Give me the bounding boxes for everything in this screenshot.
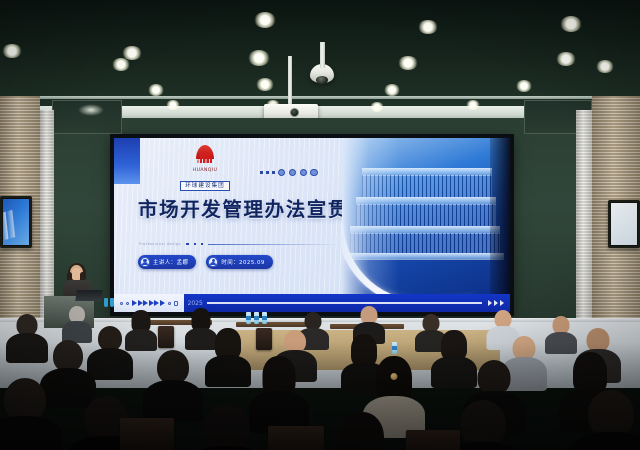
slide-accent-bar bbox=[114, 138, 140, 184]
audience-member bbox=[196, 404, 258, 450]
company-logo: HUANQIU 环球建设集团 bbox=[170, 144, 240, 192]
water-bottle bbox=[392, 342, 397, 354]
projector-lens-icon bbox=[290, 108, 299, 117]
slide-content: HUANQIU 环球建设集团 市场开发管理办法宣贯 Professional d… bbox=[114, 138, 510, 294]
audience-member bbox=[330, 412, 392, 450]
slide-building-photo bbox=[342, 138, 510, 294]
decor-ring-icon bbox=[289, 169, 296, 176]
projector-mount bbox=[288, 56, 292, 108]
downlight bbox=[148, 84, 164, 96]
photo-edge-shade bbox=[490, 138, 510, 294]
presenter-label: 主讲人：孟娜 bbox=[153, 258, 188, 266]
audience-member bbox=[436, 330, 472, 382]
downlight bbox=[370, 102, 384, 112]
presenter-pill: 主讲人：孟娜 bbox=[138, 255, 196, 269]
audience-member bbox=[548, 316, 574, 350]
downlight bbox=[466, 100, 480, 110]
audience-member bbox=[150, 350, 196, 416]
downlight bbox=[560, 16, 582, 32]
water-bottle bbox=[246, 312, 251, 324]
downlight bbox=[166, 100, 180, 110]
downlight bbox=[516, 80, 532, 92]
photo-fade-overlay bbox=[342, 138, 510, 294]
decorative-dots bbox=[260, 169, 318, 176]
downlight bbox=[398, 56, 418, 70]
decor-ring-icon bbox=[310, 169, 317, 176]
right-wall-monitor[interactable] bbox=[608, 200, 640, 248]
right-wall-monitor-screen bbox=[611, 203, 637, 245]
decor-square-icon bbox=[194, 243, 196, 245]
audience-member bbox=[210, 328, 246, 380]
person-icon bbox=[140, 257, 150, 267]
downlight bbox=[556, 52, 576, 66]
decor-ring-icon bbox=[300, 169, 307, 176]
audience-member bbox=[128, 310, 154, 344]
fan-logo-icon bbox=[192, 144, 218, 168]
camera-lens-icon bbox=[316, 76, 328, 84]
date-label: 时间：2025.09 bbox=[221, 258, 264, 266]
downlight bbox=[384, 84, 400, 96]
chair bbox=[256, 328, 272, 350]
ceiling-rail bbox=[0, 96, 640, 99]
audience-member bbox=[452, 400, 514, 450]
divider-line bbox=[208, 244, 339, 245]
left-wall-monitor[interactable] bbox=[0, 196, 32, 248]
decor-square-icon bbox=[260, 171, 263, 174]
downlight bbox=[112, 58, 130, 71]
chair bbox=[120, 418, 174, 450]
audience-member bbox=[0, 378, 54, 450]
slide-subtitle-row: Professional design bbox=[139, 242, 339, 246]
logo-caption: HUANQIU bbox=[170, 169, 240, 174]
decor-square-icon bbox=[272, 171, 275, 174]
decor-square-icon bbox=[266, 171, 269, 174]
conference-room-scene: HUANQIU 环球建设集团 市场开发管理办法宣贯 Professional d… bbox=[0, 0, 640, 450]
downlight bbox=[2, 44, 22, 58]
left-wall-monitor-screen bbox=[3, 199, 29, 245]
audience-member bbox=[92, 326, 128, 376]
audience-member bbox=[10, 314, 44, 360]
downlight bbox=[596, 60, 614, 73]
date-pill: 时间：2025.09 bbox=[206, 255, 272, 269]
wall-glare bbox=[78, 104, 104, 116]
audience-member bbox=[580, 390, 640, 450]
slide-meta-pills: 主讲人：孟娜 时间：2025.09 bbox=[138, 255, 273, 269]
decor-ring-icon bbox=[278, 169, 285, 176]
chair bbox=[406, 430, 460, 450]
decor-square-icon bbox=[186, 243, 188, 245]
chair bbox=[268, 426, 324, 450]
water-bottle bbox=[262, 312, 267, 324]
camera-mount bbox=[320, 42, 325, 68]
decor-square-icon bbox=[201, 243, 203, 245]
company-name-badge: 环球建设集团 bbox=[180, 181, 230, 191]
side-wall-white-right bbox=[576, 110, 592, 330]
downlight bbox=[254, 12, 276, 28]
water-bottle bbox=[254, 312, 259, 324]
hair-clip-icon bbox=[391, 373, 398, 380]
audience-member bbox=[64, 306, 90, 340]
person-icon bbox=[208, 257, 218, 267]
audience-member bbox=[256, 356, 302, 422]
slide-subtitle-en: Professional design bbox=[139, 242, 181, 246]
projection-screen[interactable]: HUANQIU 环球建设集团 市场开发管理办法宣贯 Professional d… bbox=[112, 136, 512, 314]
downlight bbox=[248, 50, 270, 66]
audience bbox=[0, 300, 640, 450]
downlight bbox=[418, 20, 438, 34]
downlight bbox=[256, 78, 274, 91]
chair bbox=[158, 326, 174, 348]
